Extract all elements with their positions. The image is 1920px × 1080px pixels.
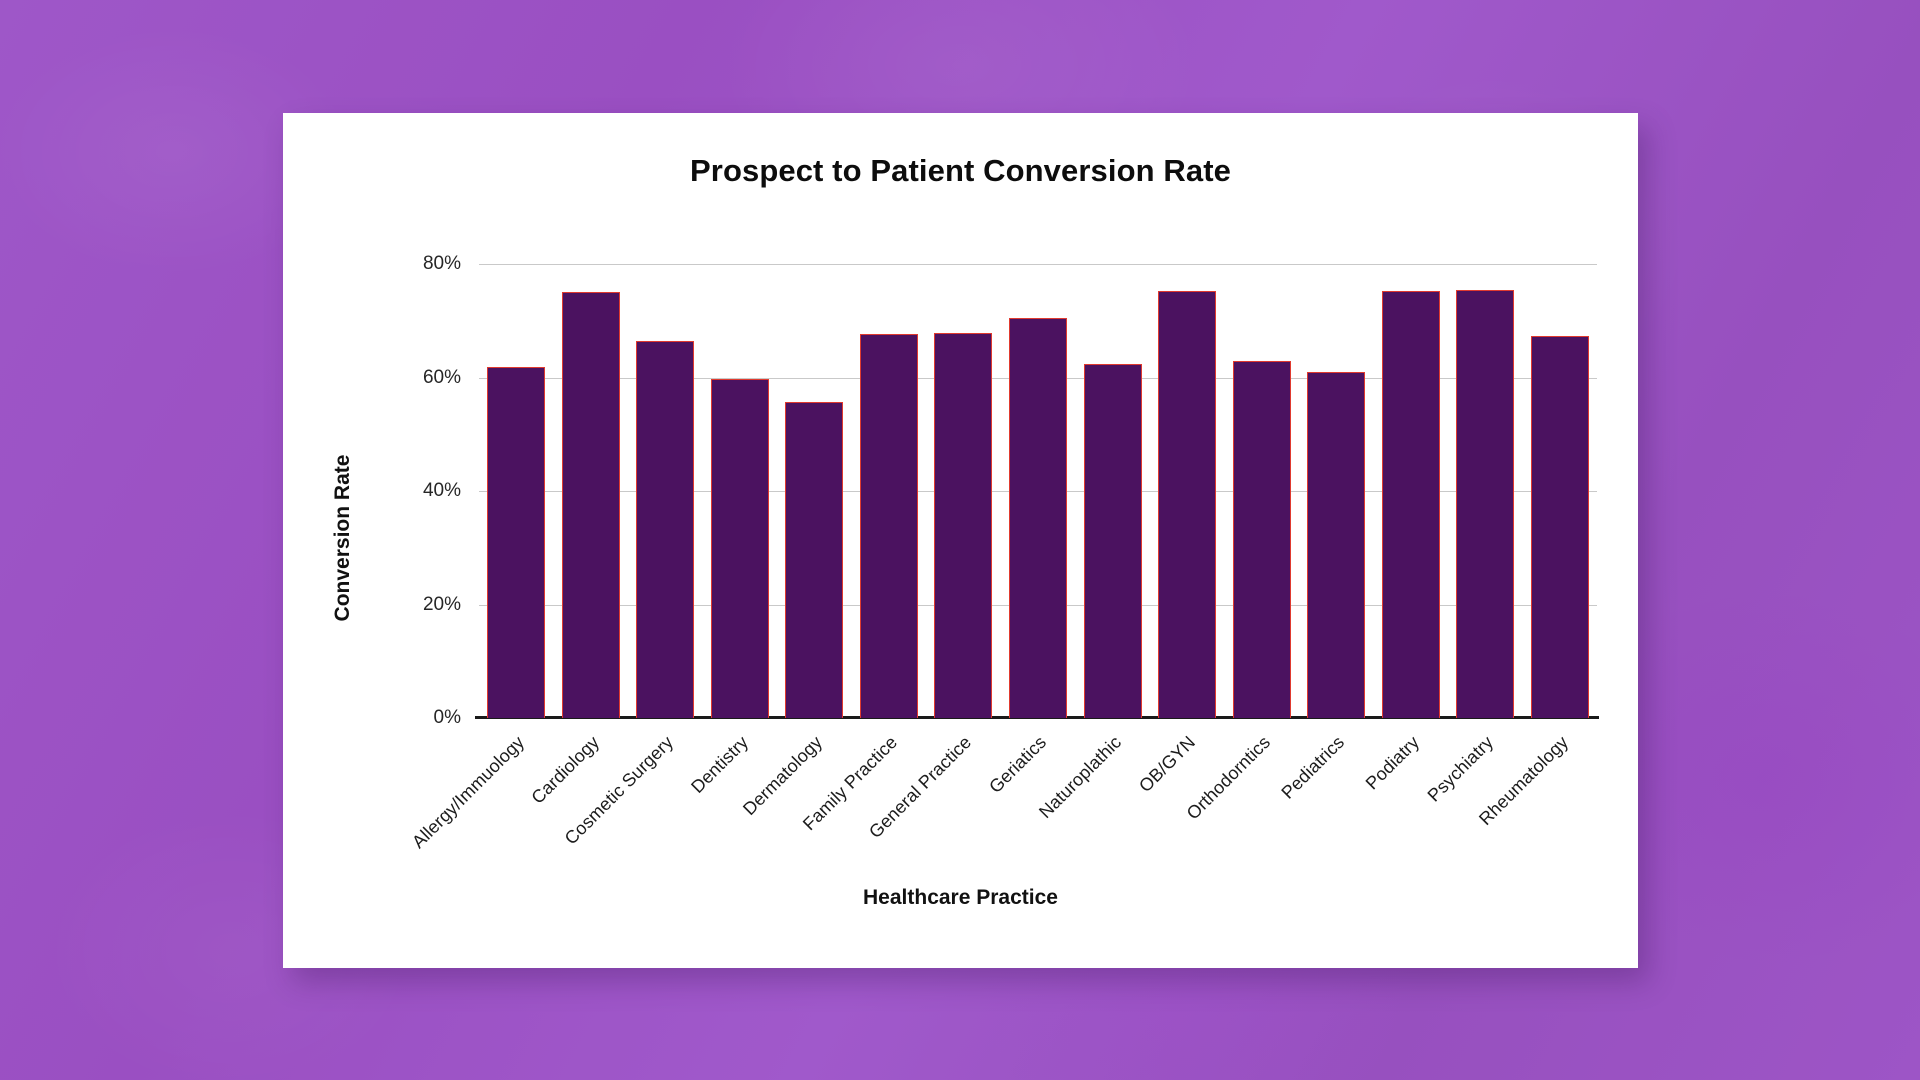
x-tick-label: Cardiology xyxy=(527,732,603,808)
y-axis-title: Conversion Rate xyxy=(331,455,355,622)
y-tick-label: 40% xyxy=(423,480,461,502)
bar[interactable] xyxy=(562,292,620,718)
bar[interactable] xyxy=(785,402,843,718)
bar-slot: Naturoplathic xyxy=(1075,264,1150,718)
bar-slot: OB/GYN xyxy=(1150,264,1225,718)
x-tick-label: Pediatrics xyxy=(1278,732,1349,803)
y-tick-label: 60% xyxy=(423,367,461,389)
y-tick-label: 80% xyxy=(423,253,461,275)
bar-slot: Family Practice xyxy=(852,264,927,718)
x-axis-title: Healthcare Practice xyxy=(283,886,1638,910)
bar-slot: Cardiology xyxy=(554,264,629,718)
x-tick-label: Allergy/Immuology xyxy=(408,732,529,853)
bar[interactable] xyxy=(860,334,918,718)
bar[interactable] xyxy=(1158,291,1216,718)
chart-card: Prospect to Patient Conversion Rate Conv… xyxy=(283,113,1638,968)
y-tick-label: 0% xyxy=(434,707,461,729)
x-tick-label: Geriatics xyxy=(985,732,1051,798)
bar[interactable] xyxy=(1307,372,1365,718)
bar-slot: Pediatrics xyxy=(1299,264,1374,718)
bar-slot: Rheumatology xyxy=(1522,264,1597,718)
y-tick-label: 20% xyxy=(423,594,461,616)
bar-slot: Dentistry xyxy=(703,264,778,718)
bar[interactable] xyxy=(711,379,769,718)
bar[interactable] xyxy=(934,333,992,718)
bar-slot: Psychiatry xyxy=(1448,264,1523,718)
bar-series: Allergy/ImmuologyCardiologyCosmetic Surg… xyxy=(479,264,1597,718)
bar-slot: Allergy/Immuology xyxy=(479,264,554,718)
x-tick-label: Dentistry xyxy=(687,732,753,798)
bar[interactable] xyxy=(1233,361,1291,718)
bar[interactable] xyxy=(1009,318,1067,718)
plot-area: 0%20%40%60%80% Allergy/ImmuologyCardiolo… xyxy=(479,264,1597,718)
bar-slot: Geriatics xyxy=(1001,264,1076,718)
bar[interactable] xyxy=(636,341,694,718)
bar-slot: Orthodorntics xyxy=(1224,264,1299,718)
x-tick-label: Podiatry xyxy=(1361,732,1423,794)
bar-slot: Cosmetic Surgery xyxy=(628,264,703,718)
chart-title: Prospect to Patient Conversion Rate xyxy=(283,153,1638,189)
x-tick-label: OB/GYN xyxy=(1135,732,1200,797)
bar[interactable] xyxy=(487,367,545,718)
bar-slot: Podiatry xyxy=(1373,264,1448,718)
bar[interactable] xyxy=(1456,290,1514,718)
x-tick-label: Psychiatry xyxy=(1424,732,1498,806)
bar-slot: Dermatology xyxy=(777,264,852,718)
bar[interactable] xyxy=(1531,336,1589,718)
bar-slot: General Practice xyxy=(926,264,1001,718)
bar[interactable] xyxy=(1382,291,1440,718)
bar[interactable] xyxy=(1084,364,1142,718)
page-root: Prospect to Patient Conversion Rate Conv… xyxy=(0,0,1920,1080)
